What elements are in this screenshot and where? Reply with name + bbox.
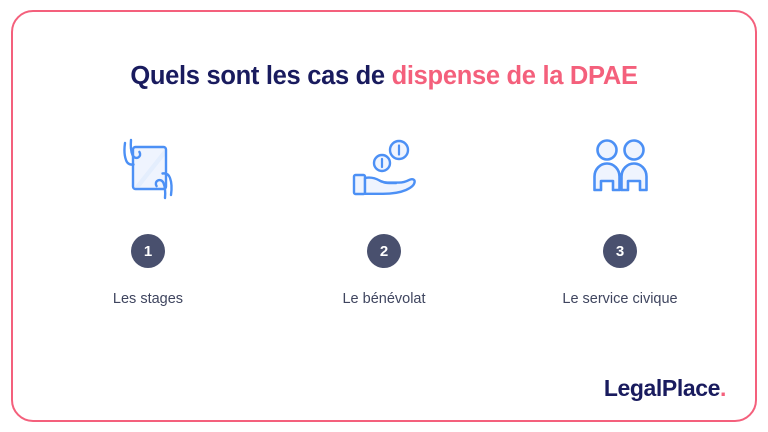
hand-receiving-coins-icon (336, 126, 432, 212)
item-column-1: 1 Les stages (41, 126, 256, 307)
step-badge-2: 2 (367, 234, 401, 268)
items-row: 1 Les stages (30, 126, 738, 307)
legalplace-logo: LegalPlace. (604, 377, 726, 400)
step-badge-3: 3 (603, 234, 637, 268)
logo-text: LegalPlace (604, 375, 720, 401)
item-caption-1: Les stages (113, 291, 183, 307)
item-caption-2: Le bénévolat (342, 291, 425, 307)
item-caption-3: Le service civique (562, 291, 677, 307)
hands-holding-document-icon (100, 126, 196, 212)
item-column-2: 2 Le bénévolat (277, 126, 492, 307)
page-title: Quels sont les cas de dispense de la DPA… (0, 61, 768, 92)
logo-dot: . (720, 375, 726, 401)
item-column-3: 3 Le service civique (513, 126, 728, 307)
page-title-pink-text: dispense de la DPAE (392, 62, 638, 90)
infographic-slide: Quels sont les cas de dispense de la DPA… (0, 0, 768, 432)
step-badge-1: 1 (131, 234, 165, 268)
page-title-navy-text: Quels sont les cas de (130, 62, 391, 90)
two-people-icon (572, 126, 668, 212)
